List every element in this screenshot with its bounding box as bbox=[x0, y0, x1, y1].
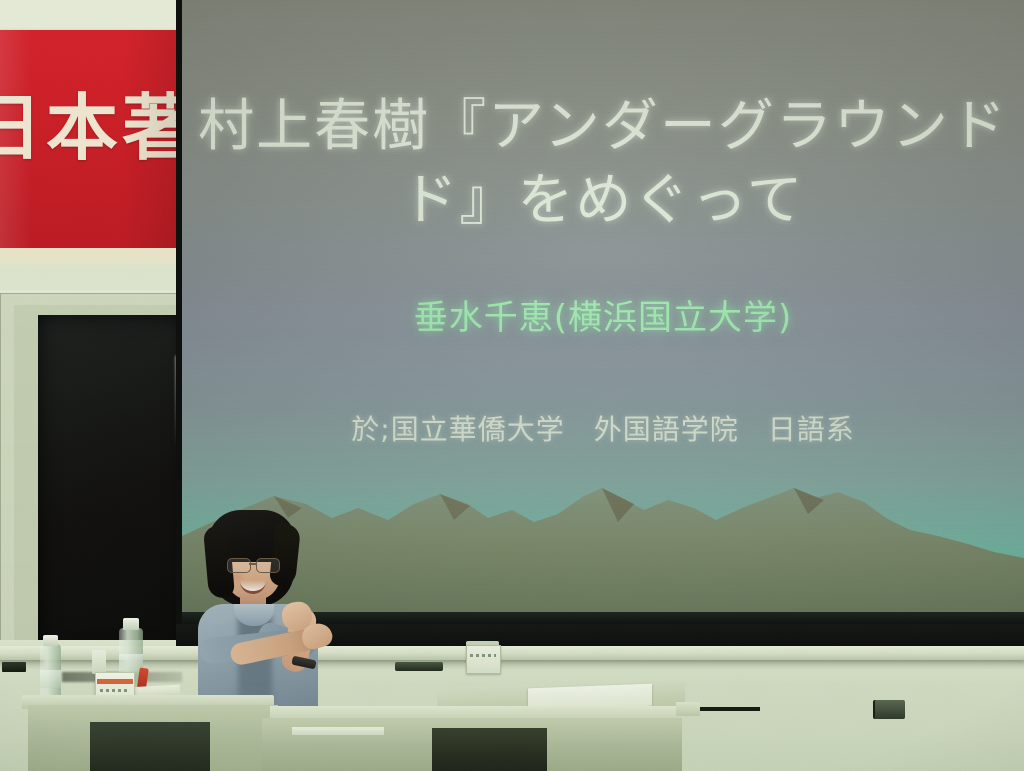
small-tube bbox=[92, 650, 106, 674]
whiteboard-eraser bbox=[875, 700, 905, 719]
slide-venue: 於;国立華僑大学 外国語学院 日語系 bbox=[182, 408, 1024, 448]
desk-paper bbox=[292, 727, 384, 735]
ledge-clip bbox=[2, 662, 26, 672]
marker-pen bbox=[395, 662, 443, 671]
door-frame bbox=[0, 290, 182, 653]
ledge-shadow bbox=[0, 660, 1024, 670]
glasses-right-lens bbox=[256, 558, 280, 573]
glasses-bridge bbox=[249, 563, 257, 565]
glasses-icon bbox=[226, 558, 282, 571]
bottle-cap-right bbox=[123, 618, 139, 630]
small-white-box bbox=[466, 645, 501, 674]
hair-right-side bbox=[269, 523, 301, 587]
glasses-left-lens bbox=[227, 558, 251, 573]
banner-bottom-strip bbox=[0, 248, 176, 264]
right-desk-edge bbox=[676, 702, 700, 716]
slide-title-line-2: ド』をめぐって bbox=[182, 164, 1024, 238]
bottle-label-left bbox=[40, 670, 61, 688]
tissue-box-band bbox=[97, 679, 133, 684]
tissue-box-text bbox=[100, 689, 130, 692]
left-desk-leg bbox=[90, 722, 210, 771]
photograph-scene: 日本著名 bbox=[0, 0, 1024, 771]
blackboard bbox=[38, 315, 186, 655]
slide-title: 村上春樹『アンダーグラウンド ド』をめぐって bbox=[182, 90, 1024, 238]
slide-title-line-1: 村上春樹『アンダーグラウンド bbox=[182, 90, 1024, 164]
red-banner: 日本著名 bbox=[0, 30, 176, 248]
banner-shading bbox=[0, 30, 176, 248]
main-desk-leg bbox=[432, 728, 547, 771]
whiteboard-ledge bbox=[0, 646, 1024, 660]
slide-speaker-affiliation: 垂水千恵(横浜国立大学) bbox=[182, 290, 1024, 339]
bottle-cap-left bbox=[43, 635, 58, 646]
